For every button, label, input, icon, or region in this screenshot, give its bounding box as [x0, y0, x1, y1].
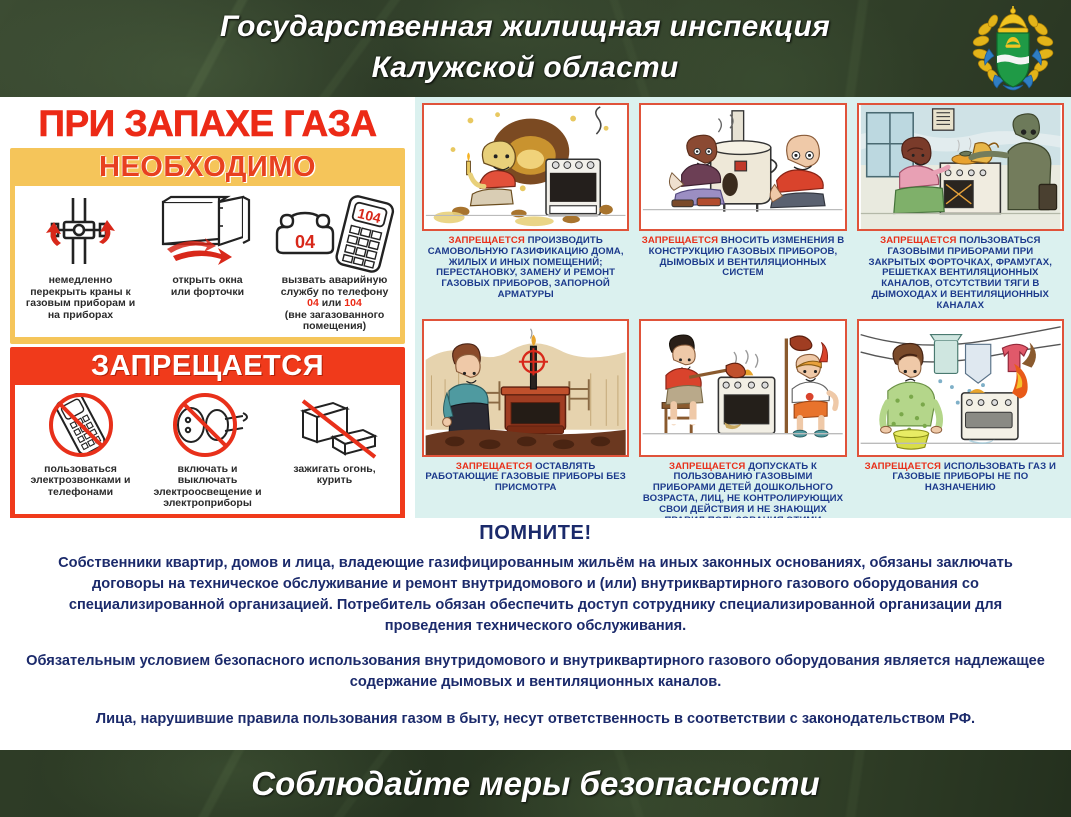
page-title: Государственная жилищная инспекция Калуж… [120, 6, 930, 88]
coat-of-arms-icon [969, 3, 1057, 93]
poster-body: ПРИ ЗАПАХЕ ГАЗА НЕОБХОДИМО [0, 97, 1071, 750]
forbidden-actions-block: ЗАПРЕЩАЕТСЯ [10, 347, 405, 521]
required-band-title: НЕОБХОДИМО [10, 152, 405, 182]
title-line-2: Калужской области [120, 47, 930, 88]
no-electric-switch-icon [145, 390, 271, 464]
forbidden-item-fire: зажигать огонь, курить [272, 390, 398, 487]
illustration-card: ЗАПРЕЩАЕТСЯ ОСТАВЛЯТЬ РАБОТАЮЩИЕ ГАЗОВЫЕ… [420, 319, 631, 545]
forbidden-item-phone-caption: пользоваться электрозвонками и телефонам… [18, 464, 144, 499]
illustration-card: ЗАПРЕЩАЕТСЯ ВНОСИТЬ ИЗМЕНЕНИЯ В КОНСТРУК… [637, 103, 848, 319]
required-item-valve-caption: немедленно перекрыть краны к газовым при… [18, 275, 144, 321]
forbidden-item-switch: включать и выключать электроосвещение и … [145, 390, 271, 510]
no-smoking-fire-icon [272, 390, 398, 464]
remember-block: ПОМНИТЕ! Собственники квартир, домов и л… [0, 518, 1071, 750]
illustration-caption: ЗАПРЕЩАЕТСЯ ИСПОЛЬЗОВАТЬ ГАЗ И ГАЗОВЫЕ П… [857, 457, 1064, 501]
required-item-call-caption: вызвать аварийную службу по телефону 04 … [272, 275, 398, 333]
gas-valve-icon [18, 191, 144, 275]
footer-slogan: Соблюдайте меры безопасности [0, 750, 1071, 817]
remember-paragraph-3: Лица, нарушившие правила пользования газ… [14, 693, 1057, 730]
forbidden-band-title: ЗАПРЕЩАЕТСЯ [10, 351, 405, 381]
illustration-caption: ЗАПРЕЩАЕТСЯ ОСТАВЛЯТЬ РАБОТАЮЩИЕ ГАЗОВЫЕ… [422, 457, 629, 501]
safety-poster: Государственная жилищная инспекция Калуж… [0, 0, 1071, 817]
required-item-window-caption: открыть окна или форточки [145, 275, 271, 298]
panel-title: ПРИ ЗАПАХЕ ГАЗА [6, 99, 409, 145]
title-line-1: Государственная жилищная инспекция [120, 6, 930, 47]
poster-header: Государственная жилищная инспекция Калуж… [0, 0, 1071, 97]
illustration-caption: ЗАПРЕЩАЕТСЯ ПОЛЬЗОВАТЬСЯ ГАЗОВЫМИ ПРИБОР… [857, 231, 1064, 319]
required-item-call: 04 104 [272, 191, 398, 333]
illustration-card: ЗАПРЕЩАЕТСЯ ДОПУСКАТЬ К ПОЛЬЗОВАНИЮ ГАЗО… [637, 319, 848, 545]
forbidden-item-switch-caption: включать и выключать электроосвещение и … [145, 464, 271, 510]
illustration-caption: ЗАПРЕЩАЕТСЯ ВНОСИТЬ ИЗМЕНЕНИЯ В КОНСТРУК… [639, 231, 846, 286]
modifying-boiler-construction-art [639, 103, 846, 231]
illegal-gasification-explosion-art [422, 103, 629, 231]
required-item-valve: немедленно перекрыть краны к газовым при… [18, 191, 144, 321]
remember-paragraph-1: Собственники квартир, домов и лица, влад… [14, 553, 1057, 637]
children-using-gas-stove-art [639, 319, 846, 457]
required-item-window: открыть окна или форточки [145, 191, 271, 298]
telephone-104-icon: 04 104 [272, 191, 398, 275]
crown-icon [998, 6, 1028, 33]
gas-smell-panel: ПРИ ЗАПАХЕ ГАЗА НЕОБХОДИМО [0, 97, 415, 518]
illustration-grid: ЗАПРЕЩАЕТСЯ ПРОИЗВОДИТЬ САМОВОЛЬНУЮ ГАЗИ… [415, 97, 1071, 518]
open-window-icon [145, 191, 271, 275]
illustration-card: ЗАПРЕЩАЕТСЯ ПОЛЬЗОВАТЬСЯ ГАЗОВЫМИ ПРИБОР… [855, 103, 1066, 319]
forbidden-item-fire-caption: зажигать огонь, курить [272, 464, 398, 487]
remember-title: ПОМНИТЕ! [14, 522, 1057, 553]
forbidden-item-phone: пользоваться электрозвонками и телефонам… [18, 390, 144, 499]
drying-laundry-over-stove-art [857, 319, 1064, 457]
no-phone-icon [18, 390, 144, 464]
poster-footer: Соблюдайте меры безопасности [0, 750, 1071, 817]
illustration-card: ЗАПРЕЩАЕТСЯ ПРОИЗВОДИТЬ САМОВОЛЬНУЮ ГАЗИ… [420, 103, 631, 319]
illustration-caption: ЗАПРЕЩАЕТСЯ ПРОИЗВОДИТЬ САМОВОЛЬНУЮ ГАЗИ… [422, 231, 629, 308]
required-actions-block: НЕОБХОДИМО [10, 148, 405, 344]
landline-number: 04 [294, 232, 314, 252]
unattended-gas-stove-art [422, 319, 629, 457]
closed-vents-kitchen-art [857, 103, 1064, 231]
illustration-card: ЗАПРЕЩАЕТСЯ ИСПОЛЬЗОВАТЬ ГАЗ И ГАЗОВЫЕ П… [855, 319, 1066, 545]
remember-paragraph-2: Обязательным условием безопасного исполь… [14, 637, 1057, 693]
